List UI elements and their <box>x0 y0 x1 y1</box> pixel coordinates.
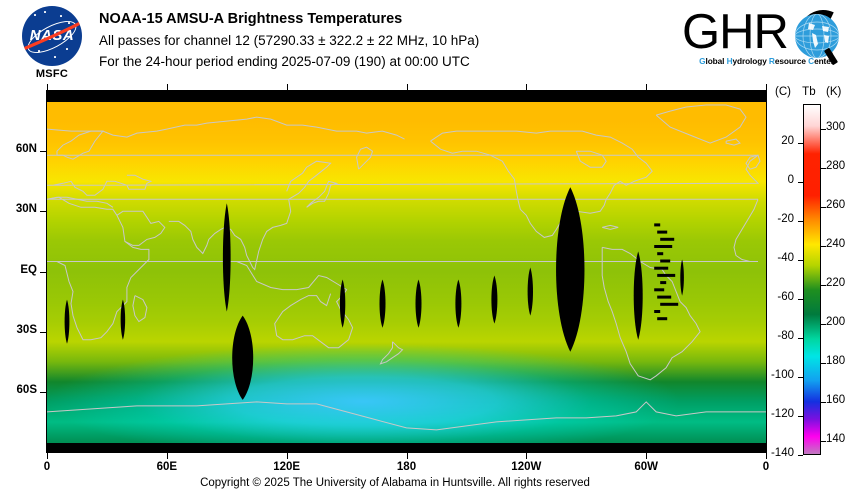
colorbar-kelvin-label: 140 <box>826 433 845 445</box>
colorbar-celsius-tick <box>798 455 803 456</box>
map-canvas <box>47 91 766 452</box>
orbital-gap <box>65 300 70 344</box>
colorbar-gradient <box>804 105 820 454</box>
missing-scanline <box>660 238 674 241</box>
missing-scanline <box>654 223 660 226</box>
x-axis-tick-top <box>167 84 168 90</box>
ghrc-globe-icon <box>795 14 839 58</box>
orbital-gap-overlay <box>47 91 766 452</box>
orbital-gap <box>232 316 253 400</box>
tagline-lobal: lobal <box>705 56 726 66</box>
orbital-gap <box>340 280 345 328</box>
page-header: NASA MSFC NOAA-15 AMSU-A Brightness Temp… <box>0 0 854 90</box>
ghrc-tagline: Global Hydrology Resource Center <box>688 56 845 66</box>
missing-scanline <box>657 231 667 234</box>
x-axis-label: 0 <box>736 461 796 473</box>
missing-scanline <box>654 267 668 270</box>
missing-scanline <box>657 252 663 255</box>
colorbar-kelvin-label: 300 <box>826 121 845 133</box>
colorbar-kelvin-label: 180 <box>826 355 845 367</box>
bottom-nodata-band <box>47 443 766 452</box>
orbital-gap <box>121 300 126 340</box>
colorbar-celsius-label: -140 <box>738 447 794 459</box>
missing-scanline <box>657 274 675 277</box>
orbital-gap <box>556 187 584 351</box>
nasa-center-label: MSFC <box>14 68 90 80</box>
orbital-gap <box>491 276 497 324</box>
colorbar-celsius-tick <box>798 338 803 339</box>
colorbar-celsius-label: -20 <box>738 213 794 225</box>
colorbar-kelvin-label: 200 <box>826 316 845 328</box>
nasa-swoosh-icon <box>22 20 82 52</box>
orbital-gap <box>380 280 386 328</box>
page-title: NOAA-15 AMSU-A Brightness Temperatures <box>99 9 479 30</box>
colorbar-kelvin-label: 160 <box>826 394 845 406</box>
colorbar-celsius-label: 20 <box>738 135 794 147</box>
colorbar-kelvin-label: 260 <box>826 199 845 211</box>
missing-scanline <box>654 245 672 248</box>
x-axis-label: 180 <box>377 461 437 473</box>
orbital-gap <box>223 203 231 311</box>
x-axis-tick-top <box>287 84 288 90</box>
missing-scanline <box>660 303 678 306</box>
brightness-temperature-map[interactable] <box>46 90 767 453</box>
colorbar-celsius-tick <box>798 143 803 144</box>
colorbar-celsius-tick <box>798 299 803 300</box>
colorbar-celsius-label: -80 <box>738 330 794 342</box>
channel-subtitle: All passes for channel 12 (57290.33 ± 32… <box>99 30 479 51</box>
y-axis-tick <box>40 332 46 333</box>
title-block: NOAA-15 AMSU-A Brightness Temperatures A… <box>99 9 479 72</box>
colorbar-quantity-label: Tb <box>802 86 815 98</box>
missing-scanline <box>654 288 664 291</box>
y-axis-tick <box>40 392 46 393</box>
top-nodata-band <box>47 91 766 102</box>
colorbar[interactable] <box>803 104 821 455</box>
x-axis-tick <box>646 453 647 459</box>
x-axis-tick-top <box>766 84 767 90</box>
svg-text:GHR: GHR <box>682 8 788 54</box>
colorbar-celsius-tick <box>798 377 803 378</box>
nasa-logo: NASA MSFC <box>14 6 90 86</box>
y-axis-label: 30S <box>0 324 37 336</box>
colorbar-celsius-tick <box>798 182 803 183</box>
colorbar-celsius-label: -60 <box>738 291 794 303</box>
period-subtitle: For the 24-hour period ending 2025-07-09… <box>99 51 479 72</box>
copyright-notice: Copyright © 2025 The University of Alaba… <box>0 477 790 489</box>
missing-scanline <box>657 296 671 299</box>
x-axis-tick-top <box>646 84 647 90</box>
colorbar-kelvin-label: 280 <box>826 160 845 172</box>
tagline-esource: esource <box>775 56 808 66</box>
missing-scanline <box>660 260 670 263</box>
missing-scanline <box>654 310 660 313</box>
x-axis-label: 60W <box>616 461 676 473</box>
colorbar-kelvin-label: 220 <box>826 277 845 289</box>
orbital-gap <box>455 280 461 328</box>
tagline-ydrology: ydrology <box>732 56 768 66</box>
orbital-gap <box>634 251 643 339</box>
colorbar-header: (C) Tb (K) <box>775 86 841 98</box>
y-axis-label: 60S <box>0 384 37 396</box>
x-axis-label: 0 <box>17 461 77 473</box>
orbital-gap <box>528 268 533 316</box>
x-axis-tick <box>167 453 168 459</box>
orbital-gap <box>680 260 684 296</box>
colorbar-celsius-label: 0 <box>738 174 794 186</box>
x-axis-label: 120W <box>496 461 556 473</box>
colorbar-celsius-tick <box>798 416 803 417</box>
colorbar-unit-celsius: (C) <box>775 86 791 98</box>
y-axis-label: EQ <box>0 264 37 276</box>
x-axis-label: 60E <box>137 461 197 473</box>
tagline-enter: enter <box>814 56 834 66</box>
nasa-meatball-icon: NASA <box>22 6 82 66</box>
colorbar-kelvin-label: 240 <box>826 238 845 250</box>
ghrc-logo: GHR <box>682 8 845 76</box>
y-axis-tick <box>40 211 46 212</box>
missing-scanline <box>660 281 666 284</box>
colorbar-celsius-label: -40 <box>738 252 794 264</box>
x-axis-label: 120E <box>257 461 317 473</box>
x-axis-tick <box>407 453 408 459</box>
colorbar-celsius-tick <box>798 221 803 222</box>
colorbar-unit-kelvin: (K) <box>826 86 841 98</box>
x-axis-tick <box>47 453 48 459</box>
x-axis-tick <box>287 453 288 459</box>
x-axis-tick-top <box>47 84 48 90</box>
x-axis-tick <box>526 453 527 459</box>
x-axis-tick-top <box>407 84 408 90</box>
colorbar-celsius-tick <box>798 260 803 261</box>
y-axis-tick <box>40 272 46 273</box>
missing-scanline <box>657 317 667 320</box>
colorbar-celsius-label: -100 <box>738 369 794 381</box>
x-axis-tick-top <box>526 84 527 90</box>
orbital-gap <box>416 280 422 328</box>
colorbar-celsius-label: -120 <box>738 408 794 420</box>
y-axis-label: 60N <box>0 143 37 155</box>
y-axis-label: 30N <box>0 203 37 215</box>
y-axis-tick <box>40 151 46 152</box>
